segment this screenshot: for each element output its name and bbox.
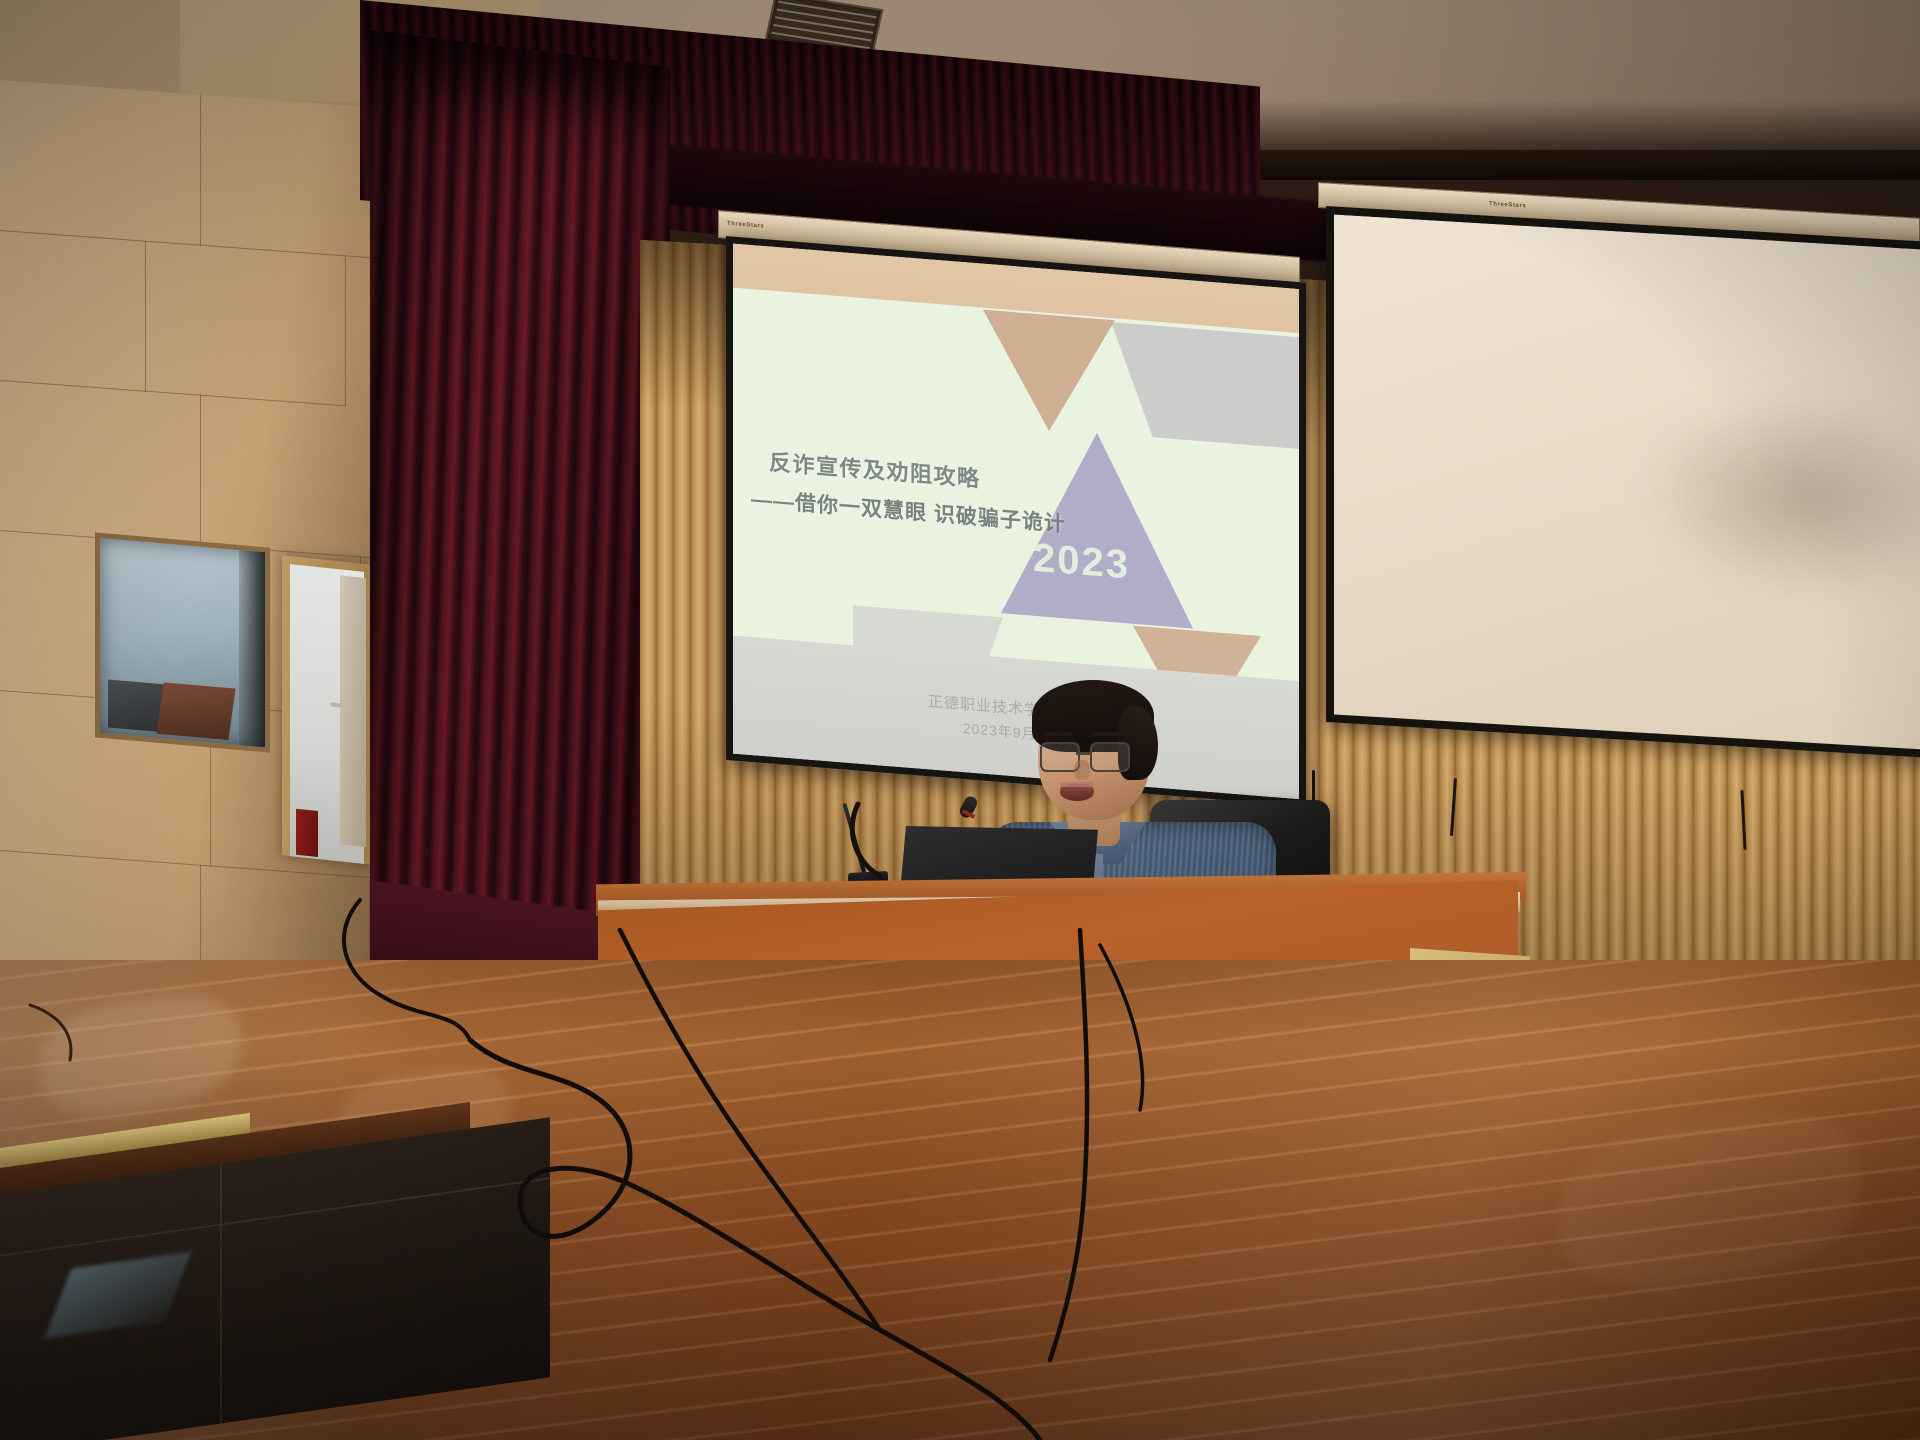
slide-triangle-grey-topright — [1111, 322, 1301, 449]
presenter-nose — [1074, 760, 1090, 780]
side-door[interactable] — [282, 555, 372, 864]
presenter-brow-right — [1092, 732, 1120, 736]
presenter-upper-lip — [1060, 782, 1094, 787]
threestars-brand-logo-left: ThreeStars — [727, 221, 764, 230]
stage-curtain — [370, 30, 670, 1007]
door-leaf — [340, 575, 366, 846]
eyeglasses-bridge — [1076, 752, 1090, 755]
slide-triangle-photo-top — [983, 310, 1115, 437]
window-glass-tint — [239, 550, 265, 747]
slide-year-badge: 2023 — [1033, 536, 1130, 589]
fire-extinguisher — [296, 809, 318, 857]
threestars-brand-logo-right: ThreeStars — [1489, 201, 1526, 209]
screen-right-shadow — [1638, 383, 1920, 613]
doorway-opening — [290, 564, 364, 864]
door-handle-icon — [330, 703, 342, 708]
auditorium-photo: ThreeStars ThreeStars 反诈宣传及劝阻攻略 ——借你一双慧眼… — [0, 0, 1920, 1440]
control-room-desk — [156, 682, 235, 740]
projection-screen-right[interactable] — [1326, 206, 1920, 758]
eyeglasses-lens-right — [1090, 742, 1130, 772]
presenter-brow-left — [1044, 732, 1072, 736]
control-room-window — [95, 532, 270, 752]
